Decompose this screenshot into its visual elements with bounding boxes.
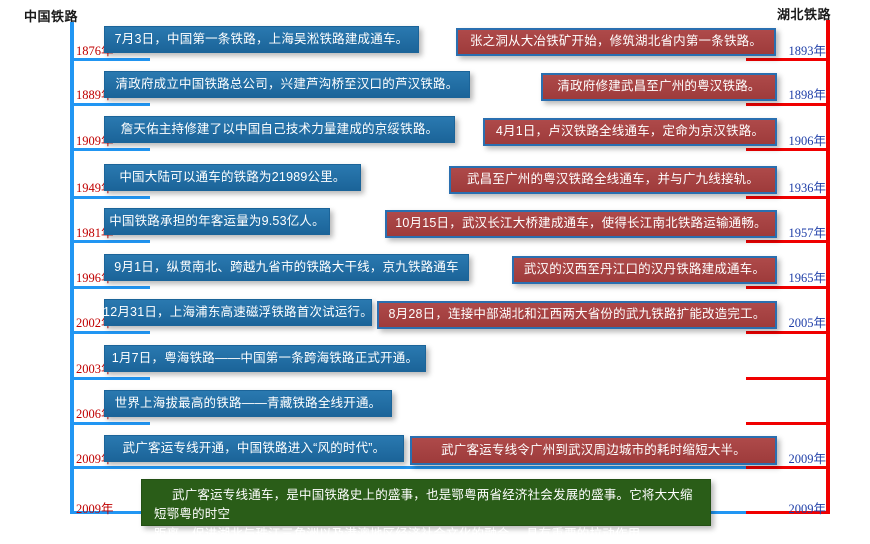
right-tick (746, 422, 826, 425)
left-tick (70, 196, 150, 199)
right-timeline-rail (826, 20, 830, 514)
left-tick (70, 377, 150, 380)
left-event-box[interactable]: 詹天佑主持修建了以中国自己技术力量建成的京绥铁路。 (104, 116, 455, 143)
right-event-box[interactable]: 10月15日，武汉长江大桥建成通车，使得长江南北铁路运输通畅。 (385, 210, 777, 238)
left-tick (70, 103, 150, 106)
left-event-box[interactable]: 世界上海拔最高的铁路——青藏铁路全线开通。 (104, 390, 392, 417)
left-event-box[interactable]: 中国大陆可以通车的铁路为21989公里。 (104, 164, 361, 191)
right-tick (746, 196, 826, 199)
right-tick (746, 286, 826, 289)
left-event-box[interactable]: 12月31日，上海浦东高速磁浮铁路首次试运行。 (104, 299, 372, 326)
right-timeline-header: 湖北铁路 (777, 4, 831, 23)
left-event-box[interactable]: 7月3日，中国第一条铁路，上海吴淞铁路建成通车。 (104, 26, 419, 53)
timeline-canvas: 中国铁路 湖北铁路 1876年 1889年 1909年 1949年 1981年 … (0, 0, 870, 530)
left-timeline-rail (70, 22, 74, 514)
right-event-box[interactable]: 清政府修建武昌至广州的粤汉铁路。 (541, 73, 777, 101)
right-event-box[interactable]: 4月1日，卢汉铁路全线通车，定命为京汉铁路。 (483, 118, 777, 146)
summary-line-2: 距离，促进湖北与珠江三角洲以及港澳地区经济社会文化的融合。 具有重要的拉动作用。 (154, 525, 700, 544)
right-tick (746, 103, 826, 106)
right-event-box[interactable]: 武昌至广州的粤汉铁路全线通车，并与广九线接轨。 (449, 166, 777, 194)
right-event-box[interactable]: 张之洞从大冶铁矿开始，修筑湖北省内第一条铁路。 (456, 28, 776, 56)
left-tick (70, 466, 770, 469)
left-tick (70, 422, 150, 425)
right-event-box[interactable]: 8月28日，连接中部湖北和江西两大省份的武九铁路扩能改造完工。 (377, 301, 777, 329)
right-event-box[interactable]: 武汉的汉西至丹江口的汉丹铁路建成通车。 (512, 256, 777, 284)
left-event-box[interactable]: 9月1日，纵贯南北、跨越九省市的铁路大干线，京九铁路通车 (104, 254, 469, 281)
right-tick (746, 331, 826, 334)
left-tick (70, 286, 150, 289)
summary-box[interactable]: 武广客运专线通车，是中国铁路史上的盛事，也是鄂粤两省经济社会发展的盛事。它将大大… (141, 479, 711, 526)
right-event-box[interactable]: 武广客运专线令广州到武汉周边城市的耗时缩短大半。 (410, 436, 777, 465)
left-event-box[interactable]: 清政府成立中国铁路总公司，兴建芦沟桥至汉口的芦汉铁路。 (104, 71, 470, 98)
left-event-box[interactable]: 武广客运专线开通，中国铁路进入“风的时代”。 (104, 435, 404, 462)
summary-line-1: 武广客运专线通车，是中国铁路史上的盛事，也是鄂粤两省经济社会发展的盛事。它将大大… (154, 488, 693, 521)
left-year-label: 2009年 (76, 498, 114, 517)
left-event-box[interactable]: 中国铁路承担的年客运量为9.53亿人。 (104, 208, 330, 235)
left-event-box[interactable]: 1月7日，粤海铁路——中国第一条跨海铁路正式开通。 (104, 345, 426, 372)
right-tick (746, 377, 826, 380)
right-year-label: 2009年 (748, 498, 826, 517)
left-tick (70, 331, 150, 334)
